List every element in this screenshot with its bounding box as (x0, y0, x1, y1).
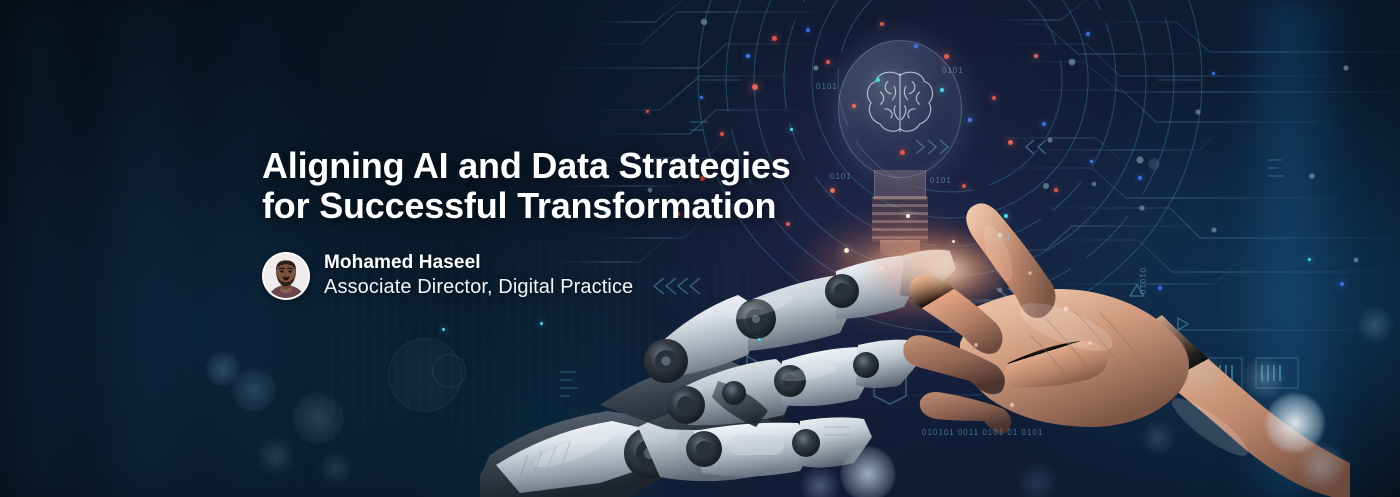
presenter-role: Associate Director, Digital Practice (324, 274, 633, 301)
avatar-portrait-icon (264, 254, 308, 298)
avatar (262, 252, 310, 300)
presenter-block: Mohamed Haseel Associate Director, Digit… (262, 251, 902, 301)
page-title: Aligning AI and Data Strategies for Succ… (262, 146, 902, 226)
human-hand-icon (880, 195, 1350, 497)
webinar-banner: 010101 0011 0101 01 0101 AI 0101 0101 01… (0, 0, 1400, 497)
brain-icon (862, 66, 938, 138)
presenter-text: Mohamed Haseel Associate Director, Digit… (324, 251, 633, 301)
banner-content: Aligning AI and Data Strategies for Succ… (262, 146, 902, 301)
presenter-name: Mohamed Haseel (324, 251, 633, 274)
